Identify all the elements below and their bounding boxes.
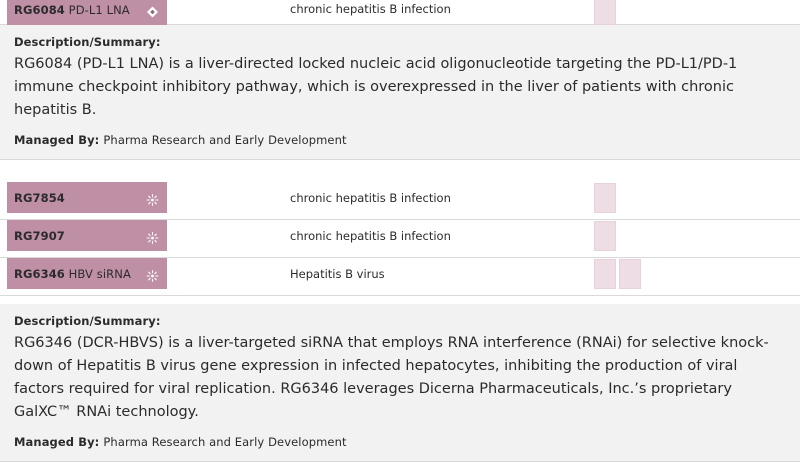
compound-code: RG7907 — [14, 229, 65, 243]
phase-bars — [594, 220, 616, 251]
phase-bar — [619, 259, 641, 289]
description-label: Description/Summary: — [14, 35, 786, 49]
compound-name: RG7854 — [14, 191, 65, 205]
table-row[interactable]: RG6084 PD-L1 LNA chronic hepatitis B inf… — [0, 0, 800, 25]
sunburst-icon — [146, 229, 159, 242]
managed-by: Managed By:Pharma Research and Early Dev… — [14, 133, 786, 147]
managed-by-label: Managed By: — [14, 435, 99, 449]
phase-bar — [594, 183, 616, 213]
table-row[interactable]: RG7854 chronic hepat — [0, 182, 800, 220]
compound-code: RG6084 — [14, 3, 65, 17]
diamond-icon — [146, 3, 159, 16]
managed-by-value: Pharma Research and Early Development — [103, 133, 346, 147]
compound-name-bar[interactable]: RG7907 — [7, 220, 167, 251]
sunburst-icon — [146, 267, 159, 280]
indication-text: chronic hepatitis B infection — [290, 0, 451, 24]
section-spacer — [0, 296, 800, 304]
description-text: RG6346 (DCR-HBVS) is a liver-targeted si… — [14, 332, 786, 424]
compound-name-bar[interactable]: RG6346 HBV siRNA — [7, 258, 167, 289]
table-row[interactable]: RG6346 HBV siRNA Hep — [0, 258, 800, 296]
managed-by-value: Pharma Research and Early Development — [103, 435, 346, 449]
phase-bars — [594, 182, 616, 213]
indication-text: Hepatitis B virus — [290, 258, 385, 289]
indication-text: chronic hepatitis B infection — [290, 220, 451, 251]
phase-bars — [594, 0, 616, 25]
phase-bar — [594, 0, 616, 25]
table-row[interactable]: RG7907 chronic hepat — [0, 220, 800, 258]
description-label: Description/Summary: — [14, 314, 786, 328]
managed-by-label: Managed By: — [14, 133, 99, 147]
phase-bar — [594, 221, 616, 251]
compound-name: RG6084 PD-L1 LNA — [14, 3, 130, 17]
section-spacer — [0, 160, 800, 182]
detail-panel: Description/Summary: RG6346 (DCR-HBVS) i… — [0, 304, 800, 462]
compound-suffix: PD-L1 LNA — [65, 3, 130, 17]
compound-name: RG6346 HBV siRNA — [14, 267, 131, 281]
pipeline-table: RG6084 PD-L1 LNA chronic hepatitis B inf… — [0, 0, 800, 465]
phase-bars — [594, 258, 641, 289]
compound-name: RG7907 — [14, 229, 65, 243]
compound-name-bar[interactable]: RG7854 — [7, 182, 167, 213]
phase-bar — [594, 259, 616, 289]
compound-code: RG7854 — [14, 191, 65, 205]
compound-suffix: HBV siRNA — [65, 267, 131, 281]
managed-by: Managed By:Pharma Research and Early Dev… — [14, 435, 786, 449]
compound-code: RG6346 — [14, 267, 65, 281]
compound-name-bar[interactable]: RG6084 PD-L1 LNA — [7, 0, 167, 25]
description-text: RG6084 (PD-L1 LNA) is a liver-directed l… — [14, 53, 786, 122]
detail-panel: Description/Summary: RG6084 (PD-L1 LNA) … — [0, 25, 800, 160]
sunburst-icon — [146, 191, 159, 204]
indication-text: chronic hepatitis B infection — [290, 182, 451, 213]
